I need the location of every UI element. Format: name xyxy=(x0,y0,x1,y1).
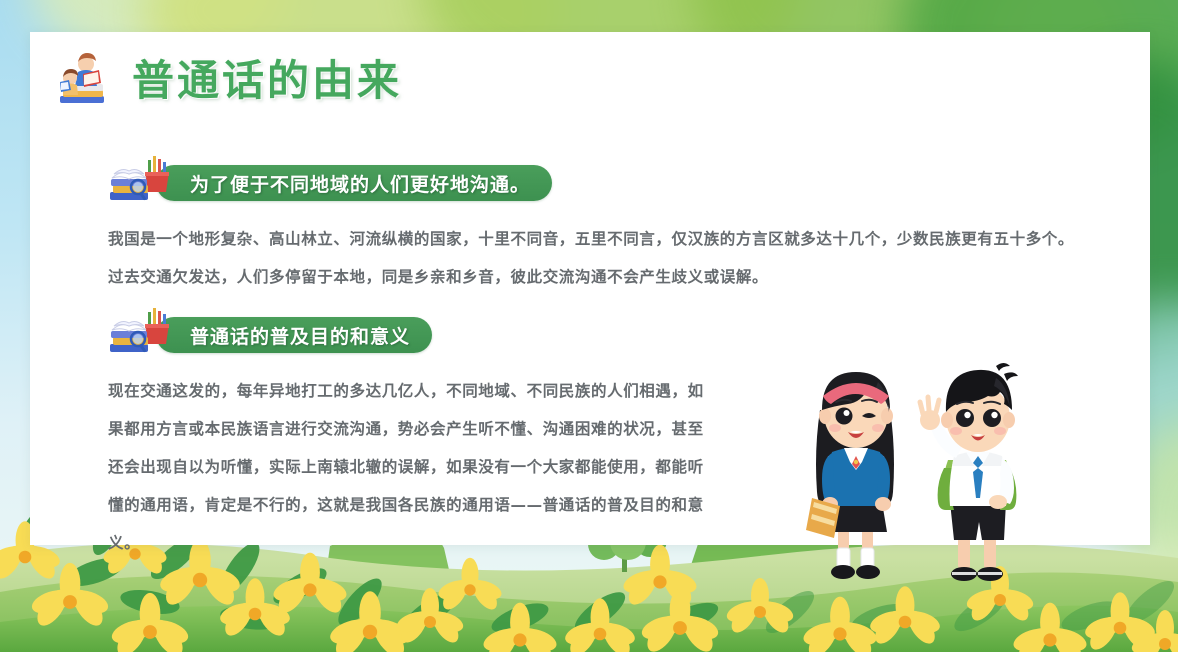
pencil-cup-icon xyxy=(145,156,169,192)
two-students-illustration xyxy=(790,352,1065,607)
books-stack-magnifier-pencils-icon xyxy=(108,306,170,356)
schoolboy-waving-hand xyxy=(920,363,1018,581)
section-1: 为了便于不同地域的人们更好地沟通。 我国是一个地形复杂、高山林立、河流纵横的国家… xyxy=(108,152,1076,296)
pencil-cup-icon xyxy=(145,308,169,344)
section-2-badge-label: 普通话的普及目的和意义 xyxy=(190,322,410,349)
section-2: 普通话的普及目的和意义 现在交通这发的，每年异地打工的多达几亿人，不同地域、不同… xyxy=(108,304,708,562)
kids-reading-books-icon xyxy=(52,50,118,112)
schoolgirl-holding-book xyxy=(806,372,894,579)
section-1-badge: 为了便于不同地域的人们更好地沟通。 xyxy=(156,165,552,201)
section-2-paragraph: 现在交通这发的，每年异地打工的多达几亿人，不同地域、不同民族的人们相遇，如果都用… xyxy=(108,372,708,562)
section-1-paragraph: 我国是一个地形复杂、高山林立、河流纵横的国家，十里不同音，五里不同言，仅汉族的方… xyxy=(108,220,1076,296)
section-1-badge-label: 为了便于不同地域的人们更好地沟通。 xyxy=(190,170,530,197)
section-2-badge: 普通话的普及目的和意义 xyxy=(156,317,432,353)
section-2-header: 普通话的普及目的和意义 xyxy=(108,304,708,356)
section-1-header: 为了便于不同地域的人们更好地沟通。 xyxy=(108,152,1076,204)
books-stack-magnifier-pencils-icon xyxy=(108,154,170,204)
page-title-row: 普通话的由来 xyxy=(52,50,402,112)
page-title: 普通话的由来 xyxy=(132,60,402,102)
